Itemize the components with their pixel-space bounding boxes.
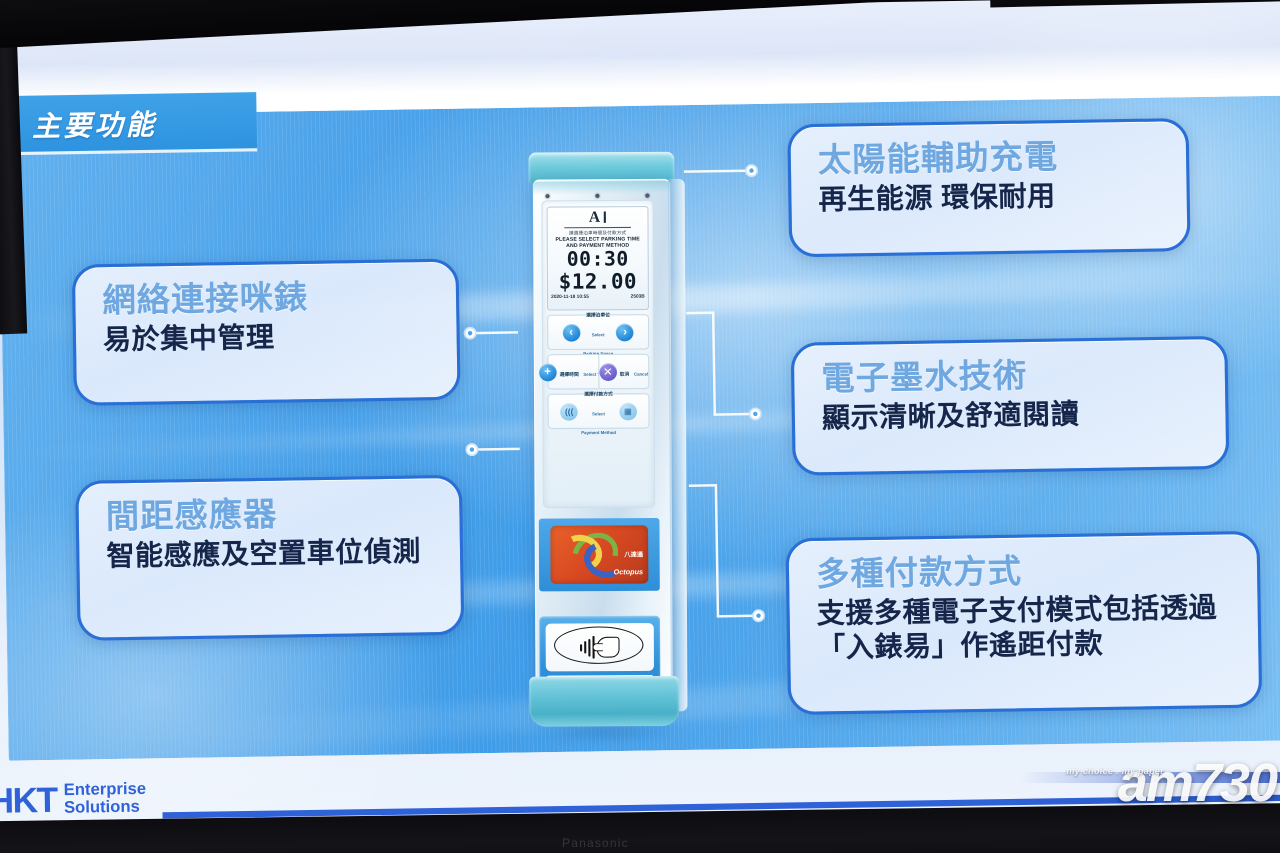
contactless-icon[interactable]: ((( <box>560 402 578 420</box>
eink-divider <box>565 227 631 228</box>
hkt-sub-wordmark: Enterprise Solutions <box>64 781 147 818</box>
payment-method-label-zh: 選擇付款方式 <box>584 392 613 397</box>
feature-card-sensor[interactable]: 間距感應器 智能感應及空置車位偵測 <box>75 475 464 641</box>
parking-meter-illustration: A 請選擇泊車時間及付款方式 PLEASE SELECT PARKING TIM… <box>518 152 687 735</box>
hkt-line-2: Solutions <box>64 798 140 817</box>
feature-card-network-title: 網絡連接咪錶 <box>102 277 433 321</box>
screw-center <box>595 194 599 198</box>
feature-card-sensor-title: 間距感應器 <box>106 493 437 537</box>
screenshot-root: 主要功能 <box>0 0 1280 853</box>
hand-icon <box>597 637 620 658</box>
screw-right <box>645 194 649 198</box>
parking-space-label-en1: Select <box>592 332 605 337</box>
feature-card-network[interactable]: 網絡連接咪錶 易於集中管理 <box>72 258 461 405</box>
meter-amount: $12.00 <box>548 271 648 293</box>
feature-card-solar-subtitle: 再生能源 環保耐用 <box>818 177 1164 217</box>
meter-bay-label: A <box>548 210 648 226</box>
payment-method-controls[interactable]: ((( 選擇付款方式 Select Payment Method ▦ <box>549 394 649 428</box>
feature-card-sensor-subtitle: 智能感應及空置車位偵測 <box>106 534 437 574</box>
feature-card-payment[interactable]: 多種付款方式 支援多種電子支付模式包括透過「入錶易」作遙距付款 <box>785 531 1262 715</box>
octopus-name-en: Octopus <box>614 569 644 576</box>
cancel-label: 取消 Cancel <box>620 362 649 381</box>
meter-eink-display: A 請選擇泊車時間及付款方式 PLEASE SELECT PARKING TIM… <box>547 206 649 311</box>
payment-method-label-en1: Select <box>592 411 605 416</box>
slide-title-tab: 主要功能 <box>0 92 257 152</box>
feature-card-network-subtitle: 易於集中管理 <box>103 318 434 358</box>
payment-method-label-en2: Payment Method <box>581 430 616 435</box>
feature-card-eink[interactable]: 電子墨水技術 顯示清晰及舒適閱讀 <box>791 336 1230 476</box>
watermark-stripe <box>1020 772 1280 783</box>
screw-left <box>545 194 549 198</box>
page-title: 主要功能 <box>32 101 157 144</box>
plus-icon[interactable]: + <box>539 363 557 381</box>
octopus-name-cn: 八達通 <box>624 553 643 559</box>
meter-button-payment-method[interactable]: ((( 選擇付款方式 Select Payment Method ▦ <box>548 393 650 429</box>
meter-octopus-panel: 八達通 Octopus <box>539 518 660 591</box>
octopus-wordmark: 八達通 Octopus <box>613 544 643 579</box>
qr-code-icon[interactable]: ▦ <box>619 402 637 420</box>
meter-button-parking-space[interactable]: ‹ 選擇泊車位 Select Parking Space › <box>547 314 649 350</box>
parking-space-label: 選擇泊車位 Select Parking Space <box>583 303 613 361</box>
bay-marker-icon <box>604 211 606 222</box>
meter-screw-row <box>545 194 649 199</box>
octopus-logo: 八達通 Octopus <box>550 525 648 584</box>
feature-card-eink-subtitle: 顯示清晰及舒適閱讀 <box>822 395 1203 436</box>
chevron-left-icon[interactable]: ‹ <box>562 323 580 341</box>
parking-space-controls[interactable]: ‹ 選擇泊車位 Select Parking Space › <box>548 315 648 349</box>
meter-side-edge <box>668 179 687 712</box>
meter-sensor-band <box>533 181 670 194</box>
cancel-label-en: Cancel <box>634 371 648 376</box>
feature-card-solar[interactable]: 太陽能輔助充電 再生能源 環保耐用 <box>787 118 1190 257</box>
parking-space-label-zh: 選擇泊車位 <box>586 313 610 318</box>
feature-card-payment-subtitle: 支援多種電子支付模式包括透過「入錶易」作遙距付款 <box>816 590 1235 666</box>
hkt-logo: HKT Enterprise Solutions <box>0 781 146 819</box>
hkt-wordmark: HKT <box>0 783 57 819</box>
meter-base <box>529 676 679 727</box>
cancel-label-zh: 取消 <box>620 371 630 376</box>
meter-id: 2503B <box>631 294 645 299</box>
close-icon[interactable]: ✕ <box>599 363 617 381</box>
feature-card-solar-title: 太陽能輔助充電 <box>818 136 1164 181</box>
feature-card-payment-title: 多種付款方式 <box>816 549 1235 595</box>
presentation-slide: 主要功能 <box>0 0 1280 848</box>
meter-front-panel: A 請選擇泊車時間及付款方式 PLEASE SELECT PARKING TIM… <box>541 200 655 508</box>
tv-brand-label: Panasonic <box>562 836 629 850</box>
meter-timestamp: 2020-11-18 10:55 <box>551 294 589 299</box>
contactless-tap-pad[interactable] <box>546 623 654 671</box>
select-time-label-zh: 選擇時間 <box>560 372 579 377</box>
hkt-line-1: Enterprise <box>64 780 147 799</box>
payment-method-label: 選擇付款方式 Select Payment Method <box>581 382 616 440</box>
chevron-right-icon[interactable]: › <box>616 323 634 341</box>
feature-card-eink-title: 電子墨水技術 <box>821 354 1202 399</box>
meter-display-footer: 2020-11-18 10:55 2503B <box>548 293 648 300</box>
